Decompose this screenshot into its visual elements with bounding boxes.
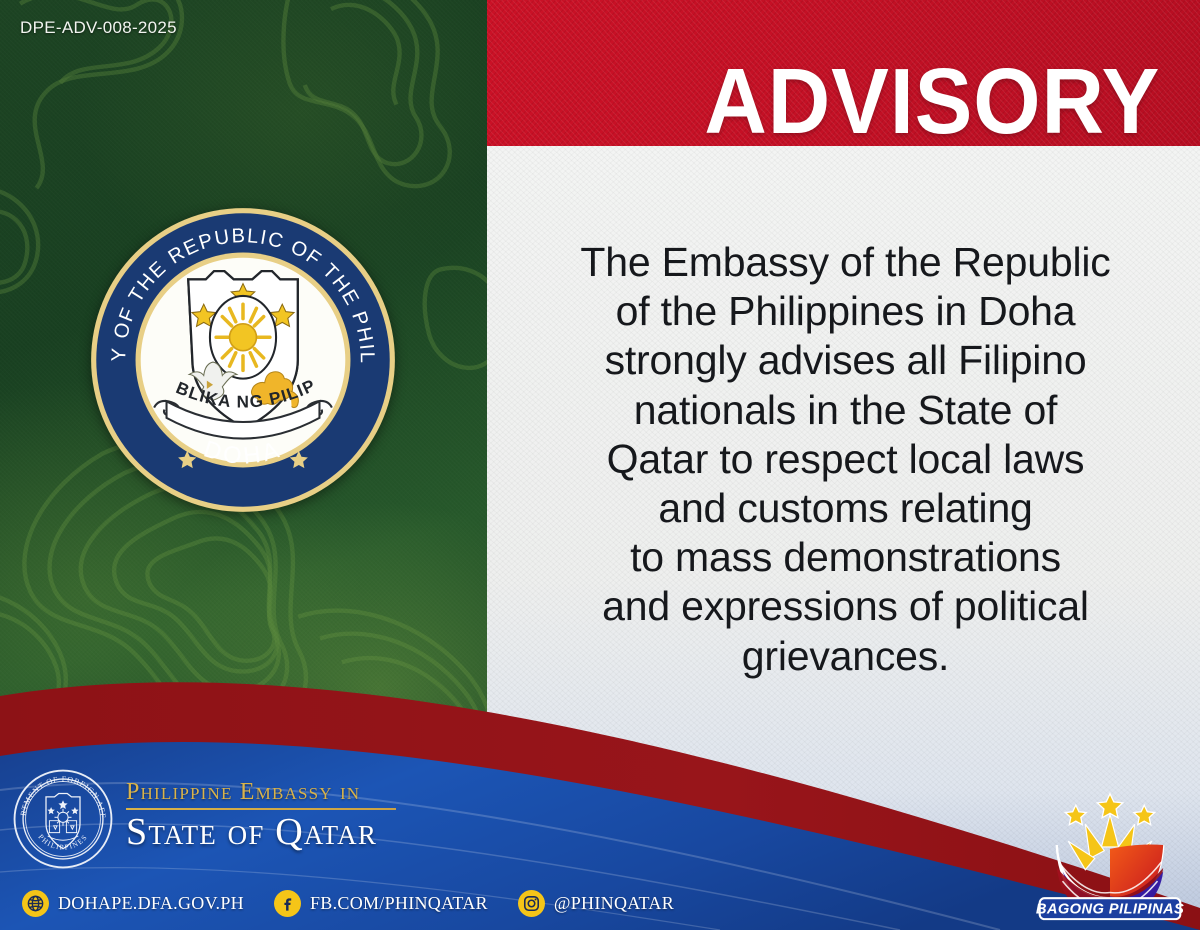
advisory-header-banner: ADVISORY: [487, 0, 1200, 146]
website-label: DOHAPE.DFA.GOV.PH: [58, 893, 244, 914]
social-links-bar: DOHAPE.DFA.GOV.PH FB.COM/PHINQATAR @PHIN…: [22, 890, 674, 917]
body-line: to mass demonstrations: [515, 533, 1176, 582]
social-link-facebook[interactable]: FB.COM/PHINQATAR: [274, 890, 488, 917]
embassy-name-line2: State of Qatar: [126, 812, 396, 854]
bagong-pilipinas-text: BAGONG PILIPINAS: [1036, 901, 1184, 917]
body-line: The Embassy of the Republic: [515, 238, 1176, 287]
bagong-pilipinas-logo: BAGONG PILIPINAS: [1034, 786, 1186, 924]
globe-icon: [22, 890, 49, 917]
advisory-body-text: The Embassy of the Republic of the Phili…: [515, 238, 1176, 681]
instagram-icon: [518, 890, 545, 917]
embassy-name-block: Philippine Embassy in State of Qatar: [126, 779, 396, 854]
body-line: nationals in the State of: [515, 386, 1176, 435]
body-line: of the Philippines in Doha: [515, 287, 1176, 336]
body-line: and customs relating: [515, 484, 1176, 533]
embassy-name-divider: [126, 808, 396, 810]
page-title: ADVISORY: [704, 55, 1160, 146]
embassy-seal: EMBASSY OF THE REPUBLIC OF THE PHILIPPIN…: [88, 205, 398, 515]
embassy-name-line1: Philippine Embassy in: [126, 779, 396, 805]
social-link-website[interactable]: DOHAPE.DFA.GOV.PH: [22, 890, 244, 917]
social-link-instagram[interactable]: @PHINQATAR: [518, 890, 674, 917]
body-line: strongly advises all Filipino: [515, 336, 1176, 385]
body-line: and expressions of political: [515, 582, 1176, 631]
dfa-seal-icon: DEPARTMENT OF FOREIGN AFFAIRS PHILIPPINE…: [12, 768, 114, 870]
instagram-label: @PHINQATAR: [554, 893, 674, 914]
facebook-label: FB.COM/PHINQATAR: [310, 893, 488, 914]
reference-number: DPE-ADV-008-2025: [20, 18, 177, 38]
facebook-icon: [274, 890, 301, 917]
advisory-poster: DPE-ADV-008-2025 EMBASSY OF THE REPUBLIC…: [0, 0, 1200, 930]
body-line: Qatar to respect local laws: [515, 435, 1176, 484]
